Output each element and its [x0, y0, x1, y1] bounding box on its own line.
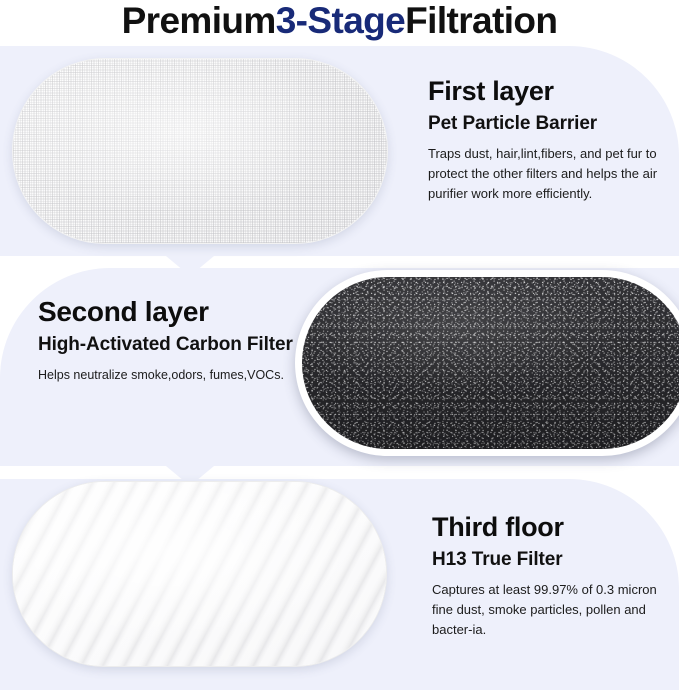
mesh-sheen-overlay	[13, 59, 387, 243]
layer-body-third: Captures at least 99.97% of 0.3 micron f…	[432, 580, 672, 639]
hepa-sheen-overlay	[13, 482, 386, 666]
layer-heading-first: First layer	[428, 76, 668, 106]
title-accent: 3-Stage	[276, 0, 405, 42]
page-title: Premium 3-Stage Filtration	[0, 0, 679, 44]
layer-heading-third: Third floor	[432, 512, 672, 542]
layer-text-second: Second layer High-Activated Carbon Filte…	[38, 296, 298, 385]
layer-heading-second: Second layer	[38, 296, 298, 327]
layer-text-first: First layer Pet Particle Barrier Traps d…	[428, 76, 668, 204]
activated-carbon-filter-panel	[295, 270, 679, 456]
hepa-pleated-filter-panel	[12, 481, 387, 667]
title-suffix: Filtration	[405, 0, 557, 42]
layer-body-second: Helps neutralize smoke,odors, fumes,VOCs…	[38, 366, 298, 385]
title-prefix: Premium	[122, 0, 276, 42]
layer-subheading-second: High-Activated Carbon Filter	[38, 333, 298, 356]
mesh-pre-filter-panel	[12, 58, 388, 244]
layer-body-first: Traps dust, hair,lint,fibers, and pet fu…	[428, 144, 668, 203]
layer-subheading-third: H13 True Filter	[432, 548, 672, 571]
layer-subheading-first: Pet Particle Barrier	[428, 112, 668, 135]
layer-text-third: Third floor H13 True Filter Captures at …	[432, 512, 672, 640]
filtration-infographic: Premium 3-Stage Filtration First layer P…	[0, 0, 679, 690]
carbon-sheen-overlay	[302, 277, 679, 449]
